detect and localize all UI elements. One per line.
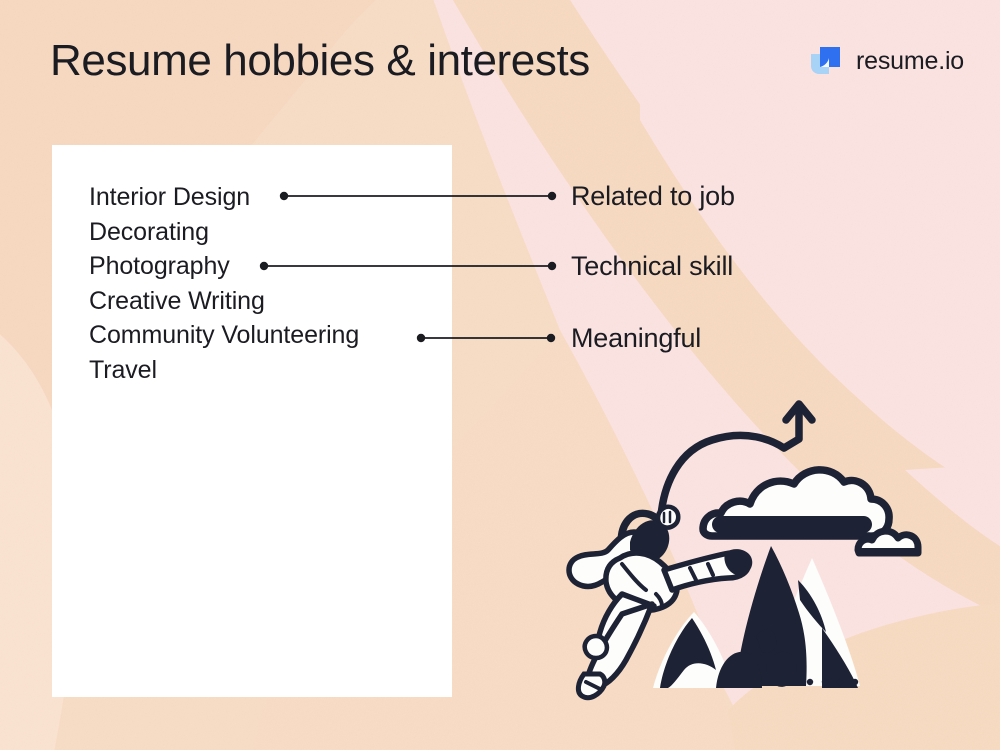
brand-logo[interactable]: resume.io [809,44,964,78]
list-item: Interior Design [89,180,449,215]
upward-arrow-icon [784,404,812,448]
category-label-technical-skill: Technical skill [571,251,733,282]
list-item: Photography [89,249,449,284]
resume-io-logo-icon [809,44,843,78]
mountain-peaks-icon [653,538,860,688]
person-climbing-mountain-illustration [560,398,960,710]
brand-name: resume.io [856,47,964,76]
cloud-large-icon [703,470,889,536]
connector-dot-right-2 [547,334,555,342]
hobby-list: Interior Design Decorating Photography C… [89,180,449,387]
page-title: Resume hobbies & interests [50,36,590,86]
connector-dot-right-1 [548,262,556,270]
list-item: Creative Writing [89,284,449,319]
slide-canvas: Resume hobbies & interests resume.io Int… [0,0,1000,750]
list-item: Decorating [89,215,449,250]
category-label-meaningful: Meaningful [571,323,701,354]
list-item: Travel [89,353,449,388]
connector-dot-right-0 [548,192,556,200]
category-label-related-to-job: Related to job [571,181,735,212]
list-item: Community Volunteering [89,318,449,353]
